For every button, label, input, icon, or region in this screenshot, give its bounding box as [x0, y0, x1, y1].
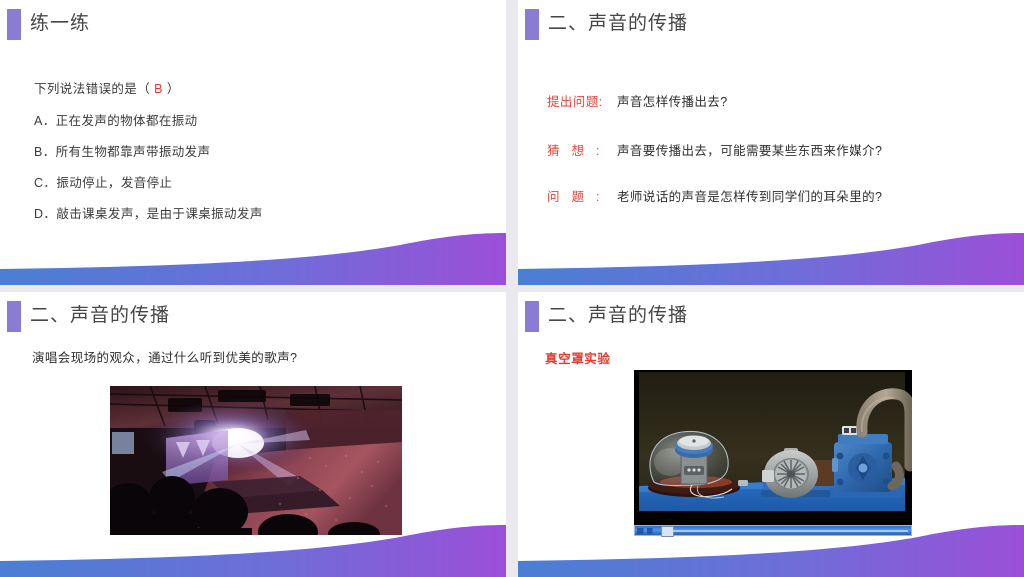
slide-thumbnail-3[interactable]: 二、声音的传播 演唱会现场的观众，通过什么听到优美的歌声?	[0, 292, 506, 577]
slide-grid: 练一练 下列说法错误的是（B） A．正在发声的物体都在振动 B．所有生物都靠声带…	[0, 0, 1024, 577]
title-accent-bar	[525, 301, 539, 332]
quiz-option-d: D．敲击课桌发声，是由于课桌振动发声	[34, 203, 263, 222]
title-accent-bar	[7, 301, 21, 332]
qa-text-question: 老师说话的声音是怎样传到同学们的耳朵里的?	[617, 190, 882, 204]
qa-line-question: 问题:老师说话的声音是怎样传到同学们的耳朵里的?	[518, 186, 1024, 205]
slide-2-title: 二、声音的传播	[548, 8, 688, 35]
seek-track[interactable]	[673, 530, 908, 532]
quiz-option-c: C．振动停止，发音停止	[34, 172, 172, 191]
footer-wave-decoration	[0, 233, 506, 285]
slide-2-header: 二、声音的传播	[518, 0, 1024, 50]
quiz-option-b: B．所有生物都靠声带振动发声	[34, 141, 210, 160]
title-accent-bar	[525, 9, 539, 40]
concert-photo-render	[110, 386, 402, 535]
qa-label-guess: 猜想:	[547, 140, 617, 159]
slide-4-title: 二、声音的传播	[548, 300, 688, 327]
slide-1-title: 练一练	[30, 8, 90, 35]
qa-text-guess: 声音要传播出去，可能需要某些东西来作媒介?	[617, 144, 882, 158]
slide-thumbnail-2[interactable]: 二、声音的传播 提出问题:声音怎样传播出去? 猜想:声音要传播出去，可能需要某些…	[518, 0, 1024, 285]
quiz-stem-after: ）	[167, 82, 180, 96]
title-accent-bar	[7, 9, 21, 40]
slide-3-caption: 演唱会现场的观众，通过什么听到优美的歌声?	[32, 347, 297, 366]
slide-4-header: 二、声音的传播	[518, 292, 1024, 342]
footer-wave-decoration	[518, 233, 1024, 285]
quiz-option-a: A．正在发声的物体都在振动	[34, 110, 198, 129]
slide-thumbnail-4[interactable]: 二、声音的传播 真空罩实验	[518, 292, 1024, 577]
quiz-answer: B	[150, 82, 167, 96]
vacuum-experiment-video[interactable]	[634, 370, 912, 525]
qa-label-ask: 提出问题:	[547, 91, 617, 110]
qa-line-ask: 提出问题:声音怎样传播出去?	[518, 91, 1024, 110]
qa-text-ask: 声音怎样传播出去?	[617, 95, 728, 109]
qa-line-guess: 猜想:声音要传播出去，可能需要某些东西来作媒介?	[518, 140, 1024, 159]
qa-label-question: 问题:	[547, 186, 617, 205]
video-player-controls[interactable]	[634, 525, 912, 536]
slide-1-header: 练一练	[0, 0, 506, 50]
vacuum-experiment-render	[634, 370, 912, 525]
slide-3-header: 二、声音的传播	[0, 292, 506, 342]
quiz-stem-before: 下列说法错误的是（	[34, 82, 150, 96]
concert-photo	[110, 386, 402, 535]
slide-thumbnail-1[interactable]: 练一练 下列说法错误的是（B） A．正在发声的物体都在振动 B．所有生物都靠声带…	[0, 0, 506, 285]
quiz-stem: 下列说法错误的是（B）	[34, 78, 180, 97]
slide-3-title: 二、声音的传播	[30, 300, 170, 327]
play-pause-stop-icons[interactable]	[637, 528, 659, 534]
slide-4-subheading: 真空罩实验	[545, 348, 611, 367]
